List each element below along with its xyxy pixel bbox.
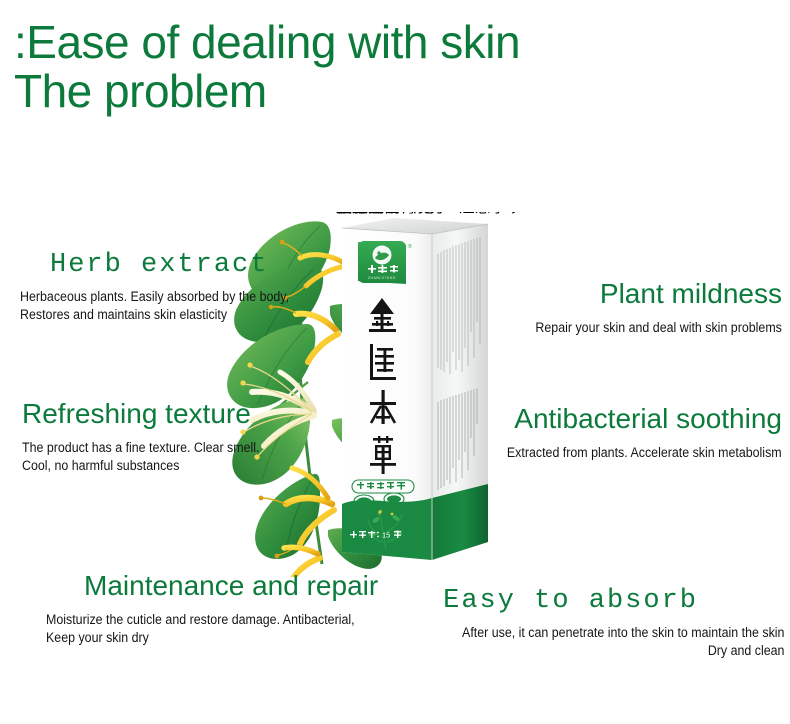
product-package: ZHANLVTANG ® — [336, 212, 516, 577]
feature-title-maintenance-and-repair: Maintenance and repair — [84, 570, 381, 602]
feature-herb-extract: Herb extract Herbaceous plants. Easily a… — [20, 250, 312, 324]
brand-logo-text: 盏绿堂 — [336, 212, 384, 216]
svg-text:ZHANLVTANG: ZHANLVTANG — [368, 276, 396, 280]
svg-text:15: 15 — [382, 531, 390, 540]
feature-desc-refreshing-texture: The product has a fine texture. Clear sm… — [22, 439, 259, 475]
feature-desc-easy-to-absorb: After use, it can penetrate into the ski… — [462, 624, 784, 660]
feature-desc-antibacterial-soothing: Extracted from plants. Accelerate skin m… — [507, 444, 782, 462]
feature-title-antibacterial-soothing: Antibacterial soothing — [483, 403, 782, 435]
feature-desc-plant-mildness: Repair your skin and deal with skin prob… — [536, 319, 782, 337]
page-title: :Ease of dealing with skin The problem — [14, 18, 614, 116]
feature-refreshing-texture: Refreshing texture The product has a fin… — [22, 398, 280, 475]
feature-antibacterial-soothing: Antibacterial soothing Extracted from pl… — [483, 403, 782, 462]
feature-plant-mildness: Plant mildness Repair your skin and deal… — [514, 278, 782, 337]
feature-easy-to-absorb: Easy to absorb After use, it can penetra… — [434, 586, 784, 660]
feature-title-easy-to-absorb: Easy to absorb — [434, 586, 698, 616]
feature-maintenance-and-repair: Maintenance and repair Moisturize the cu… — [46, 570, 381, 647]
svg-text:®: ® — [408, 243, 412, 250]
feature-desc-maintenance-and-repair: Moisturize the cuticle and restore damag… — [46, 611, 355, 647]
feature-desc-herb-extract: Herbaceous plants. Easily absorbed by th… — [20, 288, 289, 324]
feature-title-refreshing-texture: Refreshing texture — [22, 398, 280, 430]
poster-canvas: :Ease of dealing with skin The problem — [0, 0, 790, 724]
feature-title-plant-mildness: Plant mildness — [514, 278, 782, 310]
feature-title-herb-extract: Herb extract — [50, 250, 312, 280]
